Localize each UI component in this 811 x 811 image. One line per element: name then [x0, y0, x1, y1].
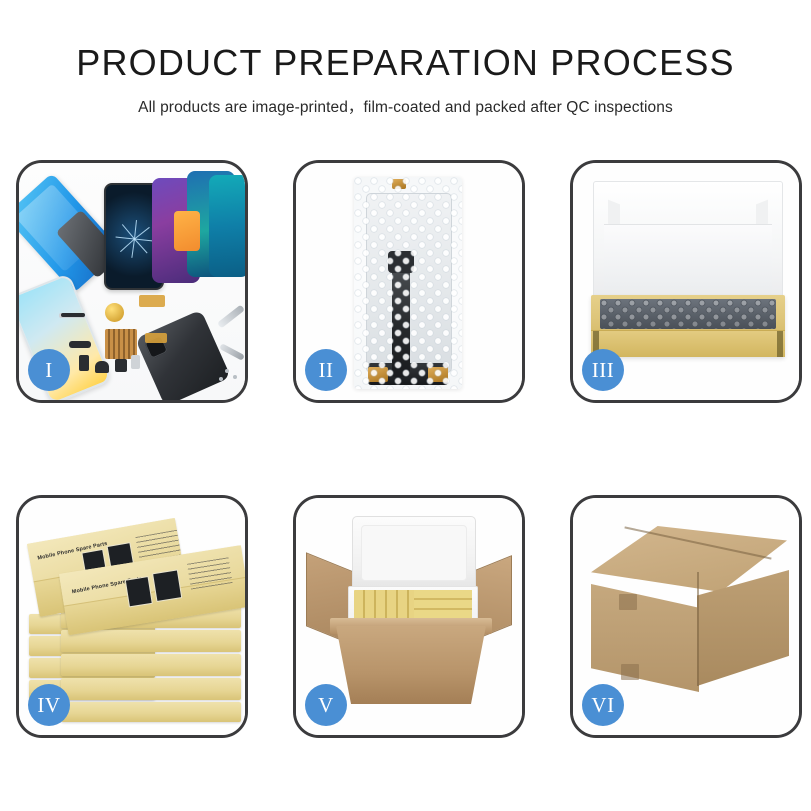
step-badge-4: IV — [28, 684, 70, 726]
screwdriver-icon — [217, 305, 245, 329]
step-badge-3: III — [582, 349, 624, 391]
step-badge-2: II — [305, 349, 347, 391]
page-subtitle: All products are image-printed，film-coat… — [0, 95, 811, 117]
crack-pattern-icon — [114, 219, 154, 259]
bubble-padding-icon — [600, 299, 776, 329]
carton-tape-patch-icon — [619, 594, 637, 610]
vibrator-icon — [115, 359, 127, 372]
camera-lens-icon — [105, 303, 124, 322]
step-panel-5: V — [293, 495, 525, 738]
header: PRODUCT PREPARATION PROCESS All products… — [0, 0, 811, 117]
flex-cable-icon — [145, 333, 167, 343]
step-panel-3: III — [570, 160, 802, 403]
box-spec-lines-icon — [187, 557, 233, 589]
speaker-icon — [95, 361, 109, 373]
stacked-box — [61, 702, 241, 722]
step-badge-5: V — [305, 684, 347, 726]
flex-cable-icon — [139, 295, 165, 307]
stacked-box — [61, 630, 241, 652]
small-part-icon — [79, 355, 89, 371]
aqua-phone-icon — [209, 175, 245, 277]
screw-icon — [233, 375, 237, 379]
foam-lid-icon — [352, 516, 476, 592]
black-connector-icon — [61, 313, 85, 317]
step-panel-4: Mobile Phone Spare Parts Mobile Phone Sp… — [16, 495, 248, 738]
tweezers-icon — [219, 343, 245, 361]
sim-tray-icon — [131, 355, 140, 369]
tray-front-panel-icon — [591, 330, 785, 357]
step-badge-6: VI — [582, 684, 624, 726]
bubble-wrap-texture-icon — [354, 177, 462, 389]
button-flex-icon — [69, 341, 91, 348]
screw-icon — [219, 377, 223, 381]
page-title: PRODUCT PREPARATION PROCESS — [0, 44, 811, 82]
bubble-bag — [354, 177, 462, 389]
lid-flap-right-icon — [756, 200, 768, 229]
carton-body-icon — [336, 626, 486, 704]
carton-vertical-seam-icon — [697, 572, 699, 686]
kraft-tray — [591, 295, 785, 357]
tray-corner-right-icon — [777, 331, 783, 357]
screw-icon — [225, 369, 229, 373]
stacked-box — [61, 678, 241, 700]
box-window-icon — [125, 576, 153, 607]
step-panel-2: II — [293, 160, 525, 403]
carton-front-face-icon — [591, 584, 699, 692]
lid-flap-left-icon — [608, 200, 620, 229]
product-preparation-infographic: PRODUCT PREPARATION PROCESS All products… — [0, 0, 811, 811]
step-badge-1: I — [28, 349, 70, 391]
box-window-icon — [152, 569, 182, 602]
carton-tape-patch-icon — [621, 664, 639, 680]
step-panel-6: VI — [570, 495, 802, 738]
phone-back-housing-icon — [135, 310, 231, 400]
orange-screen-icon — [174, 211, 200, 251]
white-box-lid-icon — [593, 181, 783, 307]
process-steps-grid: I II — [16, 160, 795, 738]
step-panel-1: I — [16, 160, 248, 403]
stacked-box — [61, 654, 241, 676]
